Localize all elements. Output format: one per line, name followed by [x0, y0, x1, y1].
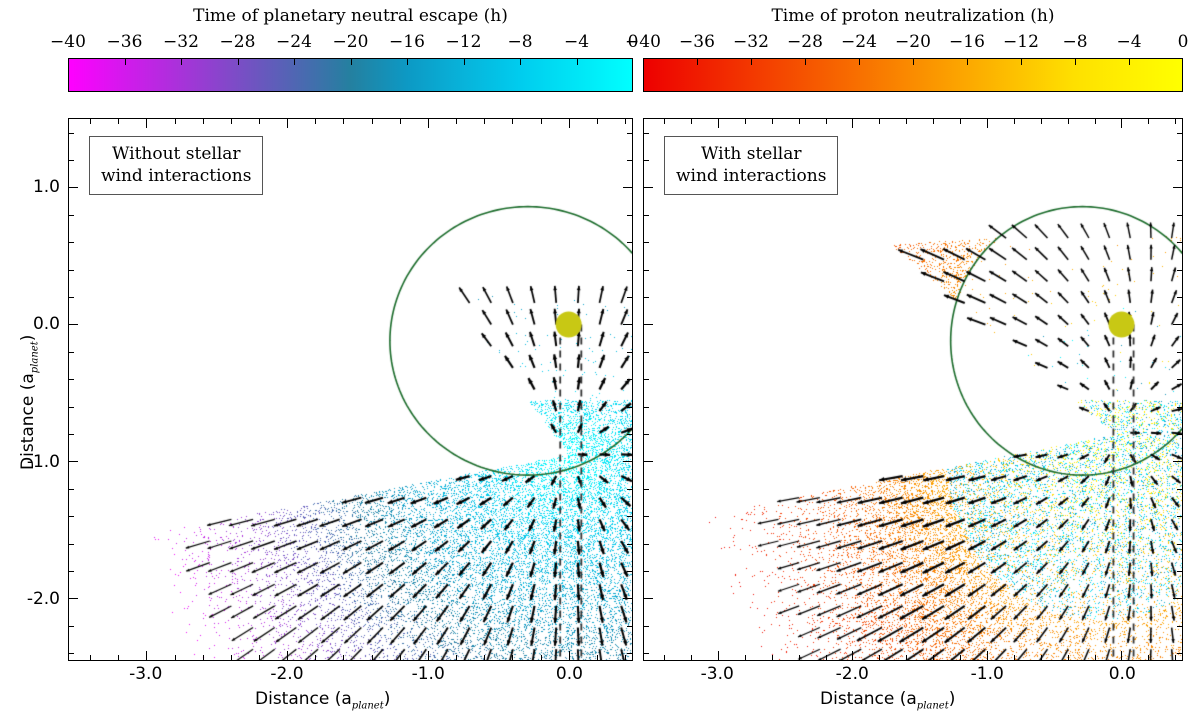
x-tick-label: 0.0: [556, 664, 583, 684]
x-ticklabels-right: -3.0-2.0-1.00.0: [643, 664, 1183, 686]
plot-panel-left[interactable]: Without stellar wind interactions: [68, 118, 633, 661]
colorbar-tick-label: −20: [333, 32, 369, 52]
colorbar-left: Time of planetary neutral escape (h) −40…: [68, 6, 633, 94]
colorbar-tick-label: −8: [507, 32, 532, 52]
x-tick-label: -2.0: [836, 664, 869, 684]
y-tick-label: 1.0: [33, 177, 60, 197]
colorbar-tick-label: −4: [1116, 32, 1141, 52]
colorbar-right: Time of proton neutralization (h) −40−36…: [643, 6, 1183, 94]
scatter-quiver-canvas-right: [644, 119, 1182, 660]
colorbar-right-ticklabels: −40−36−32−28−24−20−16−12−8−40: [643, 32, 1183, 54]
colorbar-tick-label: −28: [220, 32, 256, 52]
colorbar-tick-label: −16: [389, 32, 425, 52]
figure-root: Time of planetary neutral escape (h) −40…: [0, 0, 1200, 725]
y-tick-label: -2.0: [27, 589, 60, 609]
y-axis-label-left-text: Distance (a: [18, 373, 38, 470]
x-tick-label: -3.0: [701, 664, 734, 684]
colorbar-tick-label: −12: [1003, 32, 1039, 52]
x-axis-label-right: Distance (aplanet): [820, 689, 955, 711]
colorbar-tick-label: −32: [733, 32, 769, 52]
y-axis-label-left: Distance (aplanet): [18, 335, 40, 470]
colorbar-right-gradient: [643, 58, 1183, 92]
colorbar-left-gradient: [68, 58, 633, 92]
x-axis-label-right-text: Distance (a: [820, 689, 917, 709]
colorbar-tick-label: −40: [625, 32, 661, 52]
x-axis-label-left-text: Distance (a: [255, 689, 352, 709]
x-tick-label: -2.0: [270, 664, 303, 684]
colorbar-tick-label: −12: [446, 32, 482, 52]
colorbar-tick-label: −28: [787, 32, 823, 52]
colorbar-tick-label: −16: [949, 32, 985, 52]
annotation-left-line1: Without stellar: [101, 143, 251, 165]
y-axis-label-left-tail: ): [18, 335, 38, 342]
colorbar-left-ticklabels: −40−36−32−28−24−20−16−12−8−40: [68, 32, 633, 54]
colorbar-tick-label: 0: [1178, 32, 1189, 52]
x-tick-label: -1.0: [971, 664, 1004, 684]
annotation-left-line2: wind interactions: [101, 165, 251, 187]
x-axis-label-right-sub: planet: [917, 700, 949, 711]
y-tick-label: 0.0: [33, 314, 60, 334]
annotation-right-line1: With stellar: [676, 143, 826, 165]
x-tick-label: -3.0: [129, 664, 162, 684]
x-axis-label-right-tail: ): [949, 689, 956, 709]
colorbar-right-title: Time of proton neutralization (h): [643, 6, 1183, 26]
annotation-box-left: Without stellar wind interactions: [89, 136, 263, 195]
x-axis-label-left-sub: planet: [352, 700, 384, 711]
annotation-right-line2: wind interactions: [676, 165, 826, 187]
colorbar-tick-label: −20: [895, 32, 931, 52]
plot-panel-right[interactable]: With stellar wind interactions: [643, 118, 1183, 661]
colorbar-tick-label: −4: [564, 32, 589, 52]
x-axis-label-left-tail: ): [384, 689, 391, 709]
colorbar-tick-label: −8: [1062, 32, 1087, 52]
colorbar-left-title: Time of planetary neutral escape (h): [68, 6, 633, 26]
x-axis-label-left: Distance (aplanet): [255, 689, 390, 711]
annotation-box-right: With stellar wind interactions: [664, 136, 838, 195]
x-tick-label: -1.0: [412, 664, 445, 684]
colorbar-tick-label: −40: [50, 32, 86, 52]
colorbar-tick-label: −24: [276, 32, 312, 52]
x-tick-label: 0.0: [1109, 664, 1136, 684]
colorbar-tick-label: −36: [679, 32, 715, 52]
y-axis-label-left-sub: planet: [29, 341, 40, 373]
x-ticklabels-left: -3.0-2.0-1.00.0: [68, 664, 633, 686]
colorbar-tick-label: −32: [163, 32, 199, 52]
colorbar-tick-label: −36: [107, 32, 143, 52]
colorbar-tick-label: −24: [841, 32, 877, 52]
scatter-quiver-canvas-left: [69, 119, 632, 660]
